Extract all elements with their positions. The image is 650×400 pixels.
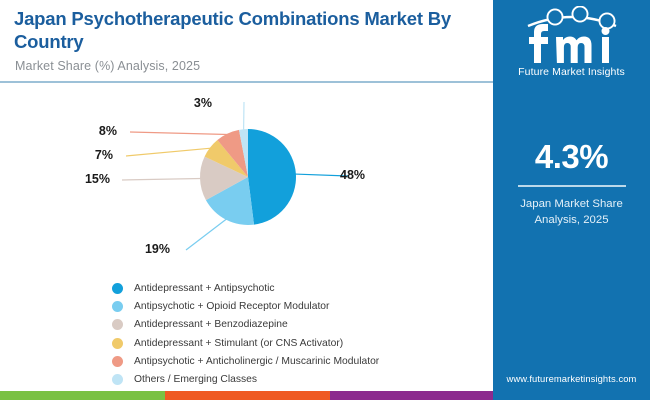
- accent-bar-segment-purple: [330, 391, 493, 400]
- pie-slice: [248, 129, 296, 225]
- header-divider: [0, 81, 493, 83]
- highlight-stat: 4.3% Japan Market Share Analysis, 2025: [493, 140, 650, 229]
- stat-value: 4.3%: [493, 140, 650, 173]
- accent-bar-segment-orange: [165, 391, 330, 400]
- fmi-logo-icon: [508, 6, 636, 64]
- legend-color-swatch: [112, 319, 123, 330]
- stat-caption: Japan Market Share Analysis, 2025: [493, 196, 650, 229]
- leader-line: [186, 219, 227, 250]
- legend-item[interactable]: Antidepressant + Benzodiazepine: [112, 316, 482, 334]
- brand-panel: Future Market Insights 4.3% Japan Market…: [493, 0, 650, 400]
- legend-item[interactable]: Antipsychotic + Opioid Receptor Modulato…: [112, 297, 482, 315]
- website-url: www.futuremarketinsights.com: [493, 373, 650, 384]
- legend-color-swatch: [112, 356, 123, 367]
- legend-color-swatch: [112, 338, 123, 349]
- fmi-logo-tagline: Future Market Insights: [493, 66, 650, 78]
- pie-value-label: 3%: [194, 96, 212, 110]
- fmi-logo: Future Market Insights: [493, 6, 650, 78]
- stat-divider: [518, 185, 626, 187]
- pie-value-label: 7%: [95, 148, 113, 162]
- page-title: Japan Psychotherapeutic Combinations Mar…: [14, 8, 484, 53]
- pie-chart: 48%19%15%7%8%3%: [0, 84, 493, 274]
- pie-chart-svg: [0, 84, 493, 274]
- legend-item-label: Others / Emerging Classes: [134, 374, 257, 385]
- pie-value-label: 15%: [85, 172, 110, 186]
- infographic-root: Japan Psychotherapeutic Combinations Mar…: [0, 0, 650, 400]
- pie-value-label: 19%: [145, 242, 170, 256]
- pie-value-label: 8%: [99, 124, 117, 138]
- accent-bar-segment-green: [0, 391, 165, 400]
- stat-caption-line-2: Analysis, 2025: [493, 212, 650, 229]
- leader-line: [130, 132, 228, 134]
- stat-caption-line-1: Japan Market Share: [493, 196, 650, 213]
- leader-line: [122, 178, 201, 180]
- bottom-accent-bar: [0, 391, 493, 400]
- legend-item-label: Antidepressant + Antipsychotic: [134, 283, 275, 294]
- page-subtitle: Market Share (%) Analysis, 2025: [15, 59, 200, 73]
- legend-item-label: Antidepressant + Benzodiazepine: [134, 319, 288, 330]
- legend-item-label: Antipsychotic + Anticholinergic / Muscar…: [134, 356, 379, 367]
- legend-color-swatch: [112, 301, 123, 312]
- legend-color-swatch: [112, 283, 123, 294]
- pie-slice-group: [200, 129, 296, 225]
- legend-item[interactable]: Others / Emerging Classes: [112, 370, 482, 388]
- legend-item[interactable]: Antidepressant + Stimulant (or CNS Activ…: [112, 334, 482, 352]
- legend-item[interactable]: Antipsychotic + Anticholinergic / Muscar…: [112, 352, 482, 370]
- leader-line: [126, 148, 211, 156]
- legend-item-label: Antidepressant + Stimulant (or CNS Activ…: [134, 338, 343, 349]
- content-area: Japan Psychotherapeutic Combinations Mar…: [0, 0, 493, 391]
- chart-legend: Antidepressant + AntipsychoticAntipsycho…: [112, 279, 482, 389]
- legend-item-label: Antipsychotic + Opioid Receptor Modulato…: [134, 301, 329, 312]
- legend-item[interactable]: Antidepressant + Antipsychotic: [112, 279, 482, 297]
- pie-value-label: 48%: [340, 168, 365, 182]
- legend-color-swatch: [112, 374, 123, 385]
